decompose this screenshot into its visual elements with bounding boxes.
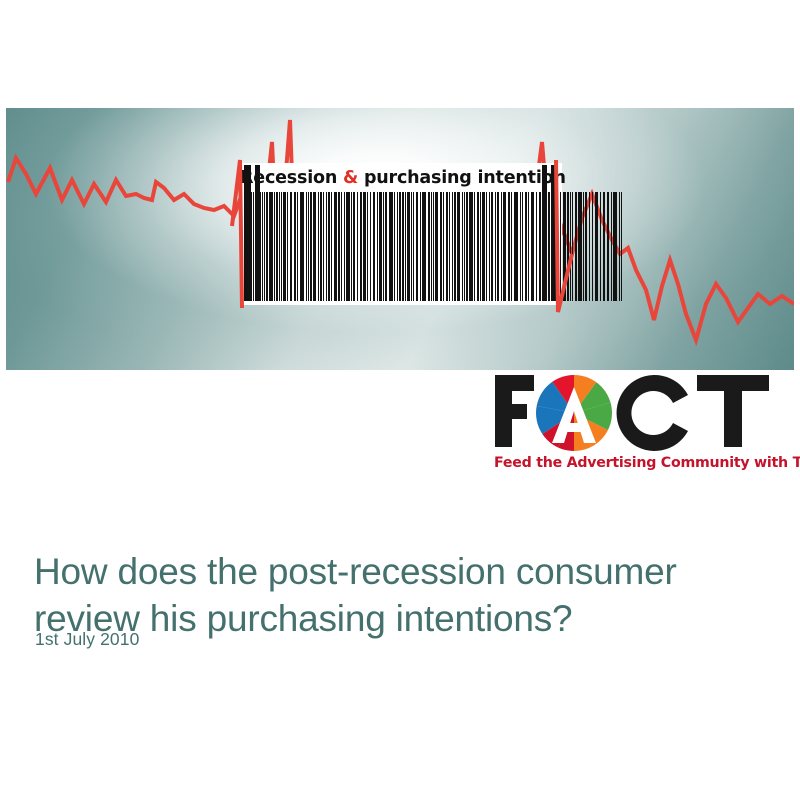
logo-letter-c [617,375,688,451]
logo-letter-t [697,375,769,447]
logo-letter-a [532,371,616,451]
page-date: 1st July 2010 [35,629,139,650]
barcode-left-flank [232,160,242,308]
fact-logo-tagline: Feed the Advertising Community with Tren… [494,455,792,471]
fact-logo: Feed the Advertising Community with Tren… [492,371,792,479]
page-title: How does the post-recession consumer rev… [34,548,764,642]
barcode-right-flank [556,160,572,312]
barcode-flank-lines [6,108,794,370]
recession-banner-image [6,108,794,370]
logo-letter-f [495,375,534,447]
fact-wordmark [492,371,792,451]
